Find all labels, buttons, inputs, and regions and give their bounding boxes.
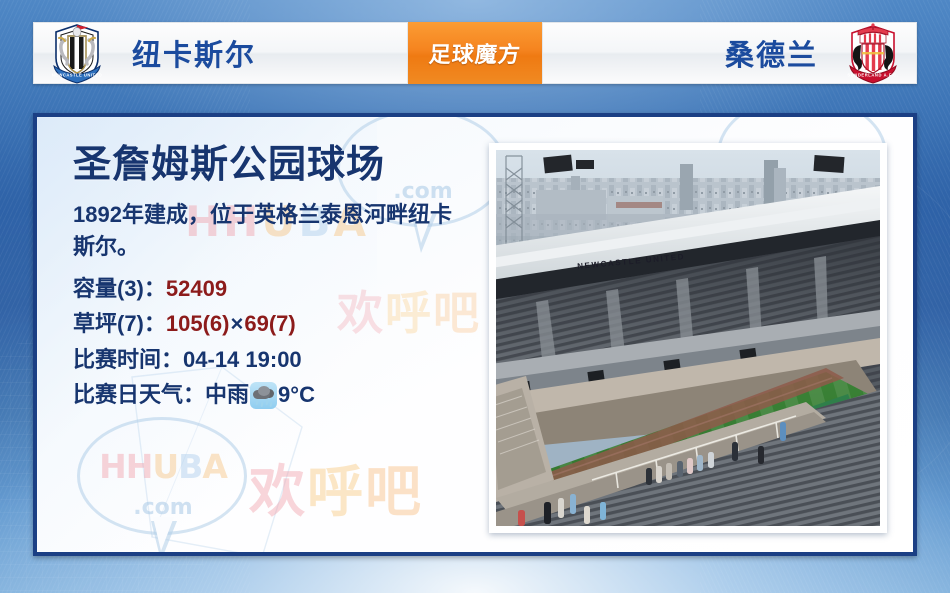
away-team-name: 桑德兰: [725, 32, 818, 74]
stadium-name: 圣詹姆斯公园球场: [73, 145, 473, 187]
pitch-width: 69(7): [244, 306, 295, 342]
weather-condition: 中雨: [205, 377, 249, 413]
watermark-brand-latin: HHUBA: [93, 447, 233, 486]
stadium-photo: NEWCASTLE UNITED: [496, 150, 880, 526]
capacity-value: 52409: [166, 271, 227, 307]
weather-temperature: 9°C: [278, 377, 315, 413]
site-logo[interactable]: 足球魔方: [408, 22, 542, 84]
pitch-times-symbol: ×: [229, 306, 244, 342]
watermark-bubble-bottom-left: HHUBA .com: [77, 417, 247, 556]
pitch-label: 草坪(7)：: [73, 306, 166, 342]
match-header: NEWCASTLE UNITED 纽卡斯尔 足球魔方 桑德兰: [33, 22, 917, 84]
pitch-row: 草坪(7)： 105(6) × 69(7): [73, 306, 473, 342]
stadium-photo-frame[interactable]: NEWCASTLE UNITED: [489, 143, 887, 533]
stadium-info-panel: .com .com HHUBA .com 欢呼吧 HHUBA 欢呼吧 圣詹姆斯公…: [33, 113, 917, 556]
kickoff-label: 比赛时间：: [73, 342, 183, 378]
weather-label: 比赛日天气：: [73, 377, 205, 413]
kickoff-value: 04-14 19:00: [183, 342, 302, 378]
watermark-domain: .com: [93, 495, 233, 520]
kickoff-row: 比赛时间： 04-14 19:00: [73, 342, 473, 378]
svg-text:SUNDERLAND A.F.C.: SUNDERLAND A.F.C.: [847, 73, 898, 78]
newcastle-united-crest-icon: NEWCASTLE UNITED: [48, 22, 106, 84]
weather-row: 比赛日天气： 中雨 9°C: [73, 377, 473, 413]
home-team-name: 纽卡斯尔: [132, 32, 256, 74]
capacity-row: 容量(3)： 52409: [73, 271, 473, 307]
stadium-description: 1892年建成，位于英格兰泰恩河畔纽卡斯尔。: [73, 199, 473, 263]
stadium-info-text: 圣詹姆斯公园球场 1892年建成，位于英格兰泰恩河畔纽卡斯尔。 容量(3)： 5…: [73, 145, 473, 413]
watermark-brand-cn: 欢呼吧: [249, 447, 423, 528]
away-team-block[interactable]: 桑德兰 SUNDERLAND A.F.C.: [542, 22, 917, 84]
pitch-length: 105(6): [166, 306, 230, 342]
moderate-rain-icon: [250, 382, 277, 409]
site-logo-text: 足球魔方: [428, 37, 522, 69]
capacity-label: 容量(3)：: [73, 271, 166, 307]
svg-text:NEWCASTLE UNITED: NEWCASTLE UNITED: [52, 73, 102, 78]
home-team-block[interactable]: NEWCASTLE UNITED 纽卡斯尔: [33, 22, 408, 84]
sunderland-afc-crest-icon: SUNDERLAND A.F.C.: [844, 22, 902, 84]
